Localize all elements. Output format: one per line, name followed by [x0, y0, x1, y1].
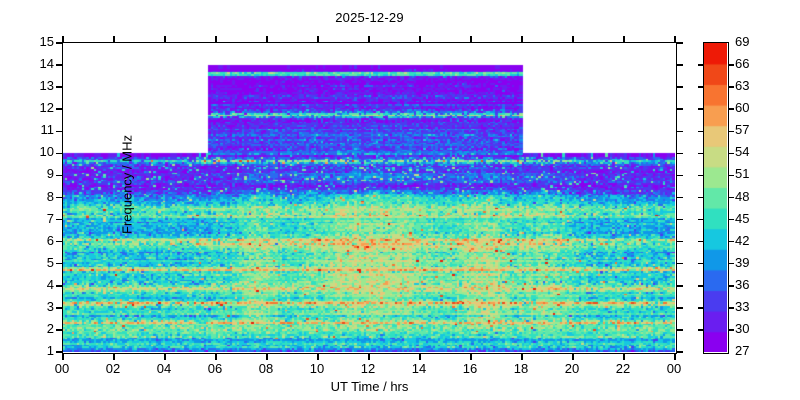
y-axis-tick-label: 5: [28, 256, 54, 269]
y-axis-tick-label: 1: [28, 344, 54, 357]
page-title: 2025-12-29: [62, 10, 677, 25]
x-axis-tick: [572, 354, 574, 360]
y-axis-tick: [56, 131, 62, 133]
colorbar-tick-label: 36: [735, 278, 749, 291]
y-axis-tick: [56, 351, 62, 353]
y-axis-tick-label: 12: [28, 101, 54, 114]
x-axis-tick-label: 16: [455, 362, 485, 375]
colorbar-tick: [698, 263, 703, 265]
y-axis-title: Frequency / MHz: [120, 95, 135, 275]
y-axis-tick: [677, 329, 683, 331]
spectrogram-page: 2025-12-29 Frequency / MHz UT Time / hrs…: [0, 0, 800, 400]
colorbar-tick-label: 57: [735, 123, 749, 136]
y-axis-tick: [56, 108, 62, 110]
y-axis-tick: [56, 64, 62, 66]
x-axis-tick-label: 02: [98, 362, 128, 375]
y-axis-tick: [56, 219, 62, 221]
x-axis-tick-label: 14: [404, 362, 434, 375]
y-axis-tick: [56, 263, 62, 265]
x-axis-tick: [674, 36, 676, 42]
y-axis-tick-label: 10: [28, 145, 54, 158]
plot-area: Frequency / MHz: [62, 42, 677, 354]
y-axis-tick: [56, 329, 62, 331]
y-axis-tick: [56, 153, 62, 155]
x-axis-tick: [521, 354, 523, 360]
colorbar-tick-label: 63: [735, 79, 749, 92]
colorbar-tick: [729, 108, 734, 110]
colorbar-tick: [729, 263, 734, 265]
colorbar-tick: [698, 131, 703, 133]
x-axis-tick: [419, 36, 421, 42]
colorbar-tick: [698, 197, 703, 199]
colorbar-tick: [729, 285, 734, 287]
colorbar-tick: [729, 219, 734, 221]
colorbar-tick-label: 69: [735, 35, 749, 48]
x-axis-tick-label: 04: [149, 362, 179, 375]
y-axis-tick-label: 13: [28, 79, 54, 92]
x-axis-title: UT Time / hrs: [62, 379, 677, 394]
y-axis-tick: [56, 42, 62, 44]
colorbar-tick-label: 45: [735, 212, 749, 225]
x-axis-tick: [317, 354, 319, 360]
y-axis-tick: [56, 241, 62, 243]
x-axis-tick: [368, 36, 370, 42]
x-axis-tick-label: 18: [506, 362, 536, 375]
colorbar-tick-label: 42: [735, 234, 749, 247]
colorbar-tick-label: 66: [735, 57, 749, 70]
y-axis-tick-label: 14: [28, 57, 54, 70]
y-axis-tick-label: 4: [28, 278, 54, 291]
colorbar-tick: [698, 219, 703, 221]
y-axis-tick-label: 6: [28, 234, 54, 247]
y-axis-tick: [56, 285, 62, 287]
y-axis-tick: [677, 219, 683, 221]
x-axis-tick: [62, 354, 64, 360]
colorbar-tick: [729, 153, 734, 155]
colorbar-tick-label: 54: [735, 145, 749, 158]
x-axis-tick: [623, 36, 625, 42]
x-axis-tick-label: 22: [608, 362, 638, 375]
x-axis-tick-label: 00: [47, 362, 77, 375]
x-axis-tick: [317, 36, 319, 42]
y-axis-tick: [677, 175, 683, 177]
y-axis-tick-label: 7: [28, 212, 54, 225]
x-axis-tick: [521, 36, 523, 42]
colorbar-tick: [729, 241, 734, 243]
colorbar-tick: [698, 175, 703, 177]
colorbar-tick-label: 48: [735, 190, 749, 203]
colorbar-tick: [698, 108, 703, 110]
colorbar-tick: [698, 285, 703, 287]
x-axis-tick: [674, 354, 676, 360]
y-axis-tick-label: 8: [28, 190, 54, 203]
colorbar-tick: [729, 175, 734, 177]
x-axis-tick-label: 10: [302, 362, 332, 375]
y-axis-tick-label: 11: [28, 123, 54, 136]
y-axis-tick: [677, 263, 683, 265]
x-axis-tick-label: 12: [353, 362, 383, 375]
colorbar-gradient: [704, 43, 727, 352]
y-axis-tick: [677, 197, 683, 199]
colorbar-tick: [698, 64, 703, 66]
x-axis-tick: [470, 36, 472, 42]
y-axis-tick: [677, 86, 683, 88]
y-axis-tick-label: 2: [28, 322, 54, 335]
y-axis-tick: [677, 241, 683, 243]
y-axis-tick: [56, 175, 62, 177]
y-axis-tick: [677, 351, 683, 353]
colorbar-tick-label: 30: [735, 322, 749, 335]
colorbar-tick: [698, 86, 703, 88]
x-axis-tick: [164, 36, 166, 42]
y-axis-tick: [677, 108, 683, 110]
x-axis-tick-label: 08: [251, 362, 281, 375]
y-axis-tick: [677, 64, 683, 66]
y-axis-tick-label: 9: [28, 167, 54, 180]
y-axis-tick: [677, 307, 683, 309]
colorbar-tick: [698, 307, 703, 309]
colorbar-tick: [729, 86, 734, 88]
y-axis-tick: [56, 86, 62, 88]
colorbar-tick: [729, 329, 734, 331]
x-axis-tick: [215, 354, 217, 360]
colorbar-tick: [698, 153, 703, 155]
colorbar-tick: [698, 329, 703, 331]
x-axis-tick: [266, 354, 268, 360]
y-axis-tick: [677, 285, 683, 287]
colorbar-tick-label: 60: [735, 101, 749, 114]
x-axis-tick: [215, 36, 217, 42]
x-axis-tick: [419, 354, 421, 360]
x-axis-tick: [623, 354, 625, 360]
colorbar-tick: [729, 197, 734, 199]
y-axis-tick-label: 15: [28, 35, 54, 48]
x-axis-tick: [62, 36, 64, 42]
x-axis-tick-label: 20: [557, 362, 587, 375]
y-axis-tick: [677, 42, 683, 44]
colorbar-tick: [698, 241, 703, 243]
x-axis-tick: [572, 36, 574, 42]
x-axis-tick-label: 00: [659, 362, 689, 375]
y-axis-tick: [677, 153, 683, 155]
colorbar: [703, 42, 729, 354]
x-axis-tick: [266, 36, 268, 42]
x-axis-tick: [113, 36, 115, 42]
x-axis-tick-label: 06: [200, 362, 230, 375]
colorbar-tick-label: 51: [735, 167, 749, 180]
heatmap-canvas: [63, 43, 675, 352]
colorbar-tick-label: 33: [735, 300, 749, 313]
y-axis-tick: [56, 197, 62, 199]
x-axis-tick: [113, 354, 115, 360]
x-axis-tick: [368, 354, 370, 360]
colorbar-tick-label: 39: [735, 256, 749, 269]
x-axis-tick: [470, 354, 472, 360]
y-axis-tick: [677, 131, 683, 133]
colorbar-tick: [729, 307, 734, 309]
y-axis-tick-label: 3: [28, 300, 54, 313]
colorbar-tick: [729, 131, 734, 133]
x-axis-tick: [164, 354, 166, 360]
colorbar-tick: [729, 64, 734, 66]
colorbar-tick-label: 27: [735, 344, 749, 357]
y-axis-tick: [56, 307, 62, 309]
